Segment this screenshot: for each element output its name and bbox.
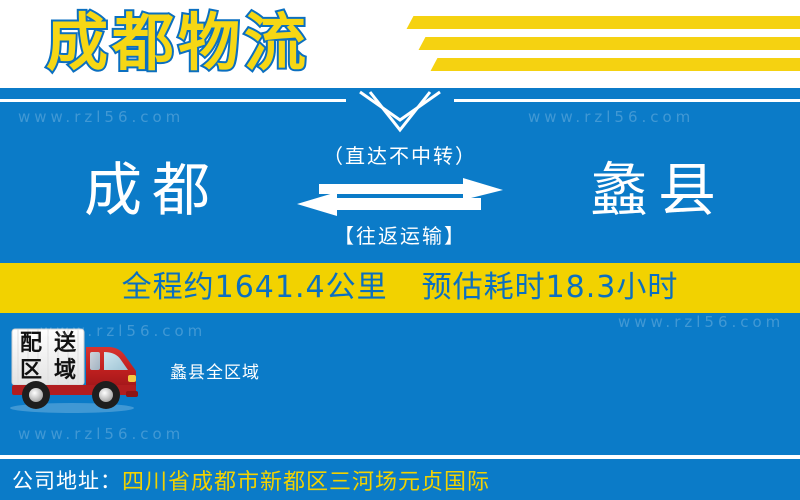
truck-box-char-1: 配 [20, 333, 42, 355]
stats-bar: 全程约1641.4公里 预估耗时18.3小时 [0, 263, 800, 313]
address-value: 四川省成都市新都区三河场元贞国际 [122, 464, 490, 496]
route-note-top: （直达不中转） [266, 142, 534, 170]
route-middle: （直达不中转） 【往返运输】 [266, 142, 534, 250]
route-note-bottom: 【往返运输】 [266, 222, 534, 250]
banner-footer: 公司地址： 四川省成都市新都区三河场元贞国际 [0, 459, 800, 500]
stripe-1 [407, 16, 800, 29]
banner-body: 成都 （直达不中转） 【往返运输】 蠡县 全程约1641.4公里 [0, 88, 800, 455]
truck-box-char-4: 域 [54, 360, 76, 382]
logistics-banner: 成都物流 成都 （直达不中转） [0, 0, 800, 500]
truck-box-char-3: 区 [20, 360, 42, 382]
delivery-truck-icon: 配 送 区 域 [8, 325, 158, 413]
banner-header: 成都物流 [0, 0, 800, 88]
bidirectional-arrow-icon [295, 178, 505, 218]
route-row: 成都 （直达不中转） 【往返运输】 蠡县 [0, 150, 800, 268]
decorative-stripes [390, 14, 800, 80]
destination-city: 蠡县 [538, 150, 778, 230]
delivery-row: 配 送 区 域 蠡县全区域 [0, 313, 800, 453]
double-chevron-down-icon [346, 88, 454, 132]
origin-city: 成都 [32, 150, 272, 230]
coverage-area-label: 蠡县全区域 [170, 358, 260, 383]
stripe-2 [419, 37, 800, 50]
duration-value: 预估耗时18.3小时 [422, 263, 679, 313]
address-label: 公司地址： [0, 465, 122, 495]
stripe-3 [431, 58, 800, 71]
truck-box-char-2: 送 [54, 333, 76, 355]
page-title: 成都物流 [46, 2, 310, 84]
distance-value: 全程约1641.4公里 [122, 263, 388, 313]
